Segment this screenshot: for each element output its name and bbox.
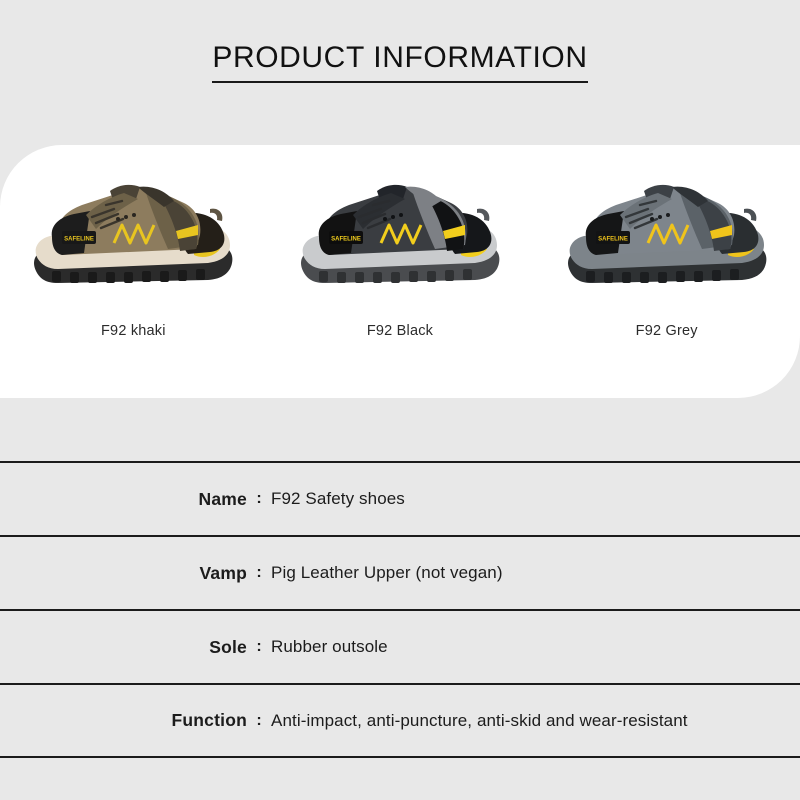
page-header: PRODUCT INFORMATION xyxy=(0,38,800,83)
table-row: Vamp : Pig Leather Upper (not vegan) xyxy=(0,535,800,609)
spec-label: Function xyxy=(0,710,247,731)
product-spec-table: Name : F92 Safety shoes Vamp : Pig Leath… xyxy=(0,461,800,758)
spec-label: Sole xyxy=(0,637,247,658)
shoe-image-khaki: SAFELINE xyxy=(18,159,248,314)
table-row: Function : Anti-impact, anti-puncture, a… xyxy=(0,683,800,758)
product-gallery-row: SAFELINE xyxy=(0,145,800,398)
shoe-illustration-icon: SAFELINE xyxy=(285,159,515,314)
spec-colon: : xyxy=(247,638,271,656)
svg-text:SAFELINE: SAFELINE xyxy=(598,237,628,243)
product-variant-khaki[interactable]: SAFELINE xyxy=(0,145,267,398)
svg-text:SAFELINE: SAFELINE xyxy=(331,237,361,243)
spec-colon: : xyxy=(247,490,271,508)
product-variant-black[interactable]: SAFELINE xyxy=(267,145,534,398)
shoe-image-black: SAFELINE xyxy=(285,159,515,314)
product-variant-caption: F92 Grey xyxy=(636,323,698,339)
page-title: PRODUCT INFORMATION xyxy=(212,38,587,83)
spec-value: Rubber outsole xyxy=(271,637,800,657)
spec-value: Anti-impact, anti-puncture, anti-skid an… xyxy=(271,711,800,731)
shoe-illustration-icon: SAFELINE xyxy=(552,159,782,314)
table-row: Sole : Rubber outsole xyxy=(0,609,800,683)
shoe-illustration-icon: SAFELINE xyxy=(18,159,248,314)
table-row: Name : F92 Safety shoes xyxy=(0,461,800,535)
spec-label: Name xyxy=(0,489,247,510)
spec-colon: : xyxy=(247,564,271,582)
product-variant-grey[interactable]: SAFELINE xyxy=(533,145,800,398)
product-gallery-card: SAFELINE xyxy=(0,145,800,398)
product-variant-caption: F92 khaki xyxy=(101,323,166,339)
spec-value: Pig Leather Upper (not vegan) xyxy=(271,563,800,583)
spec-colon: : xyxy=(247,712,271,730)
spec-label: Vamp xyxy=(0,563,247,584)
spec-value: F92 Safety shoes xyxy=(271,489,800,509)
product-variant-caption: F92 Black xyxy=(367,323,433,339)
shoe-image-grey: SAFELINE xyxy=(552,159,782,314)
svg-text:SAFELINE: SAFELINE xyxy=(64,237,94,243)
